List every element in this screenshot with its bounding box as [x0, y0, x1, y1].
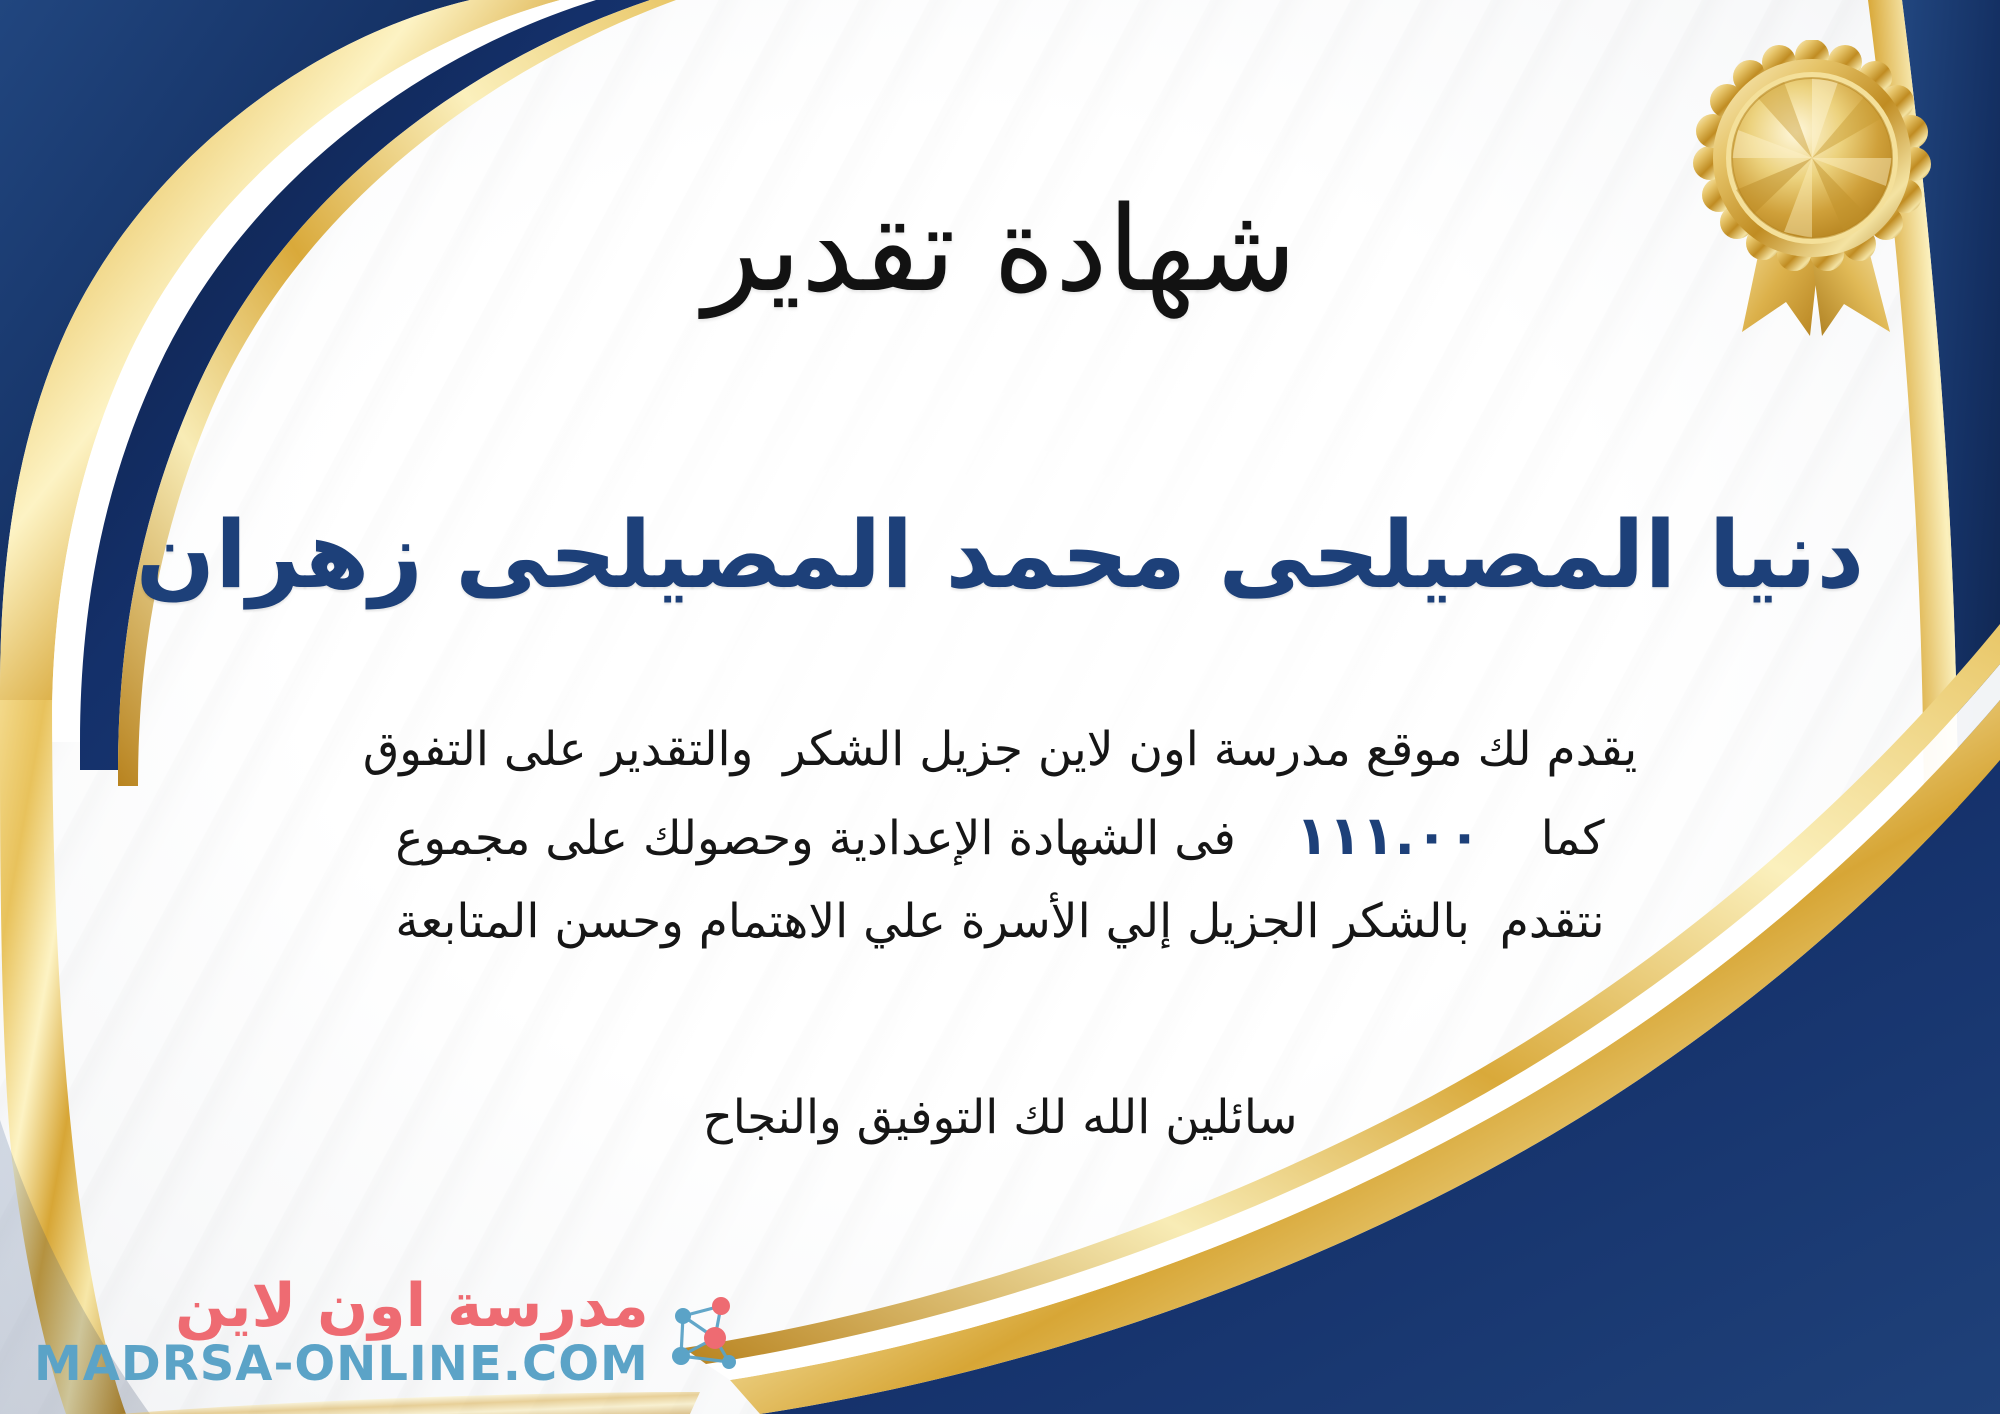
- brand-logo[interactable]: مدرسة اون لاين MADRSA-ONLINE.COM: [34, 1275, 751, 1392]
- body-line-2-before: فى الشهادة الإعدادية وحصولك على مجموع: [395, 811, 1236, 866]
- grade-total-value: ١١١.٠٠: [1296, 804, 1481, 867]
- network-nodes-icon: [659, 1286, 751, 1382]
- body-line-1: يقدم لك موقع مدرسة اون لاين جزيل الشكر و…: [150, 710, 1850, 790]
- closing-line: سائلين الله لك التوفيق والنجاح: [150, 1080, 1850, 1155]
- certificate-page: شهادة تقدير دنيا المصيلحى محمد المصيلحى …: [0, 0, 2000, 1414]
- student-name: دنيا المصيلحى محمد المصيلحى زهران: [0, 500, 2000, 612]
- certificate-title: شهادة تقدير: [0, 183, 2000, 315]
- certificate-body: يقدم لك موقع مدرسة اون لاين جزيل الشكر و…: [150, 710, 1850, 962]
- body-line-2: كما ١١١.٠٠ فى الشهادة الإعدادية وحصولك ع…: [150, 790, 1850, 882]
- certificate-content: شهادة تقدير دنيا المصيلحى محمد المصيلحى …: [0, 0, 2000, 1414]
- body-line-2-after: كما: [1541, 811, 1605, 866]
- body-line-3: نتقدم بالشكر الجزيل إلي الأسرة علي الاهت…: [150, 882, 1850, 962]
- brand-text: مدرسة اون لاين MADRSA-ONLINE.COM: [34, 1275, 649, 1392]
- brand-domain: MADRSA-ONLINE.COM: [34, 1338, 649, 1392]
- brand-name-arabic: مدرسة اون لاين: [175, 1275, 649, 1338]
